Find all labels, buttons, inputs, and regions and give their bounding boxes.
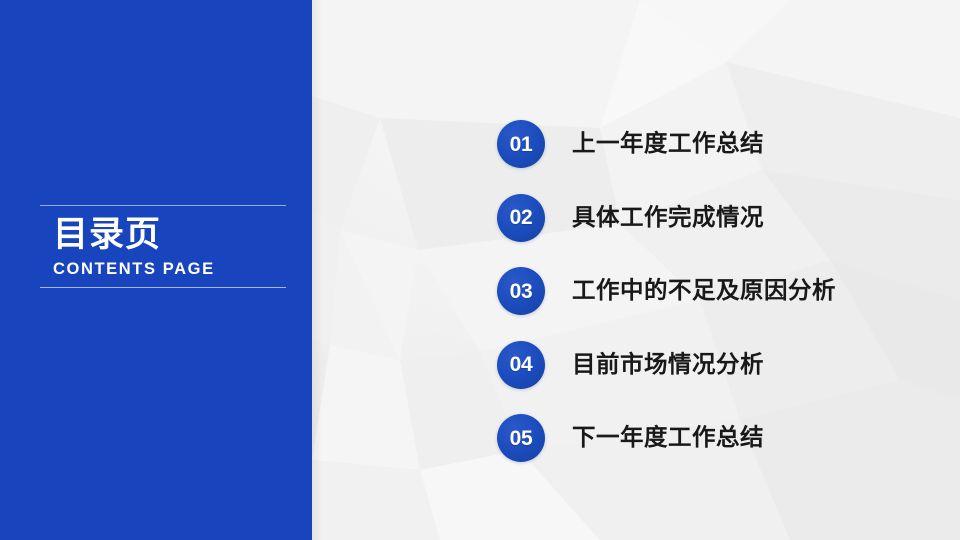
badge-number: 05 — [510, 428, 533, 449]
title-block: 目录页 CONTENTS PAGE — [40, 205, 286, 288]
panel-edge-shadow — [312, 0, 322, 540]
page-subtitle: CONTENTS PAGE — [53, 258, 286, 280]
number-badge[interactable]: 02 — [497, 194, 545, 242]
badge-number: 04 — [510, 354, 533, 375]
badge-number: 01 — [510, 134, 533, 155]
badge-number: 03 — [510, 281, 533, 302]
list-item-label: 目前市场情况分析 — [572, 353, 764, 377]
list-item-label: 具体工作完成情况 — [572, 206, 764, 230]
list-item-label: 上一年度工作总结 — [572, 132, 764, 156]
slide-canvas: 目录页 CONTENTS PAGE 01 上一年度工作总结 02 具体工作完成情… — [0, 0, 960, 540]
list-item[interactable]: 03 工作中的不足及原因分析 — [497, 267, 836, 315]
number-badge[interactable]: 03 — [497, 267, 545, 315]
list-item[interactable]: 04 目前市场情况分析 — [497, 341, 836, 389]
number-badge[interactable]: 04 — [497, 341, 545, 389]
badge-number: 02 — [510, 207, 533, 228]
contents-list: 01 上一年度工作总结 02 具体工作完成情况 03 工作中的不足及原因分析 0… — [497, 120, 836, 462]
title-rule-bottom — [40, 287, 286, 288]
number-badge[interactable]: 01 — [497, 120, 545, 168]
list-item[interactable]: 02 具体工作完成情况 — [497, 194, 836, 242]
number-badge[interactable]: 05 — [497, 414, 545, 462]
list-item-label: 下一年度工作总结 — [572, 426, 764, 450]
list-item[interactable]: 01 上一年度工作总结 — [497, 120, 836, 168]
list-item-label: 工作中的不足及原因分析 — [572, 279, 836, 303]
list-item[interactable]: 05 下一年度工作总结 — [497, 414, 836, 462]
page-title: 目录页 — [53, 214, 286, 256]
